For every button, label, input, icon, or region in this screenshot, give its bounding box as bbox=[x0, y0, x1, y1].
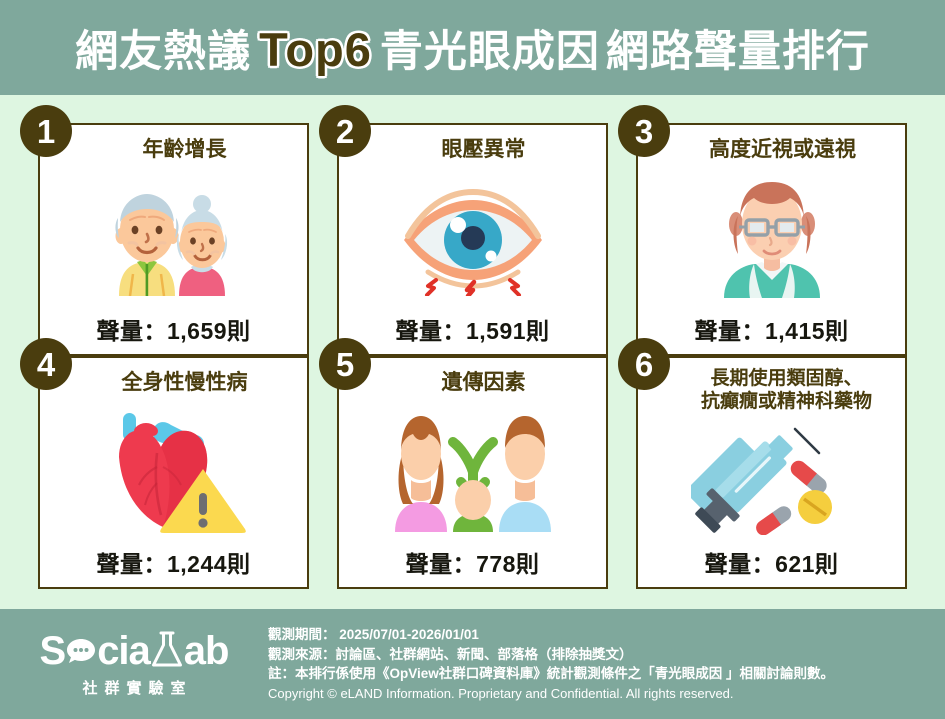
card-title-2: 眼壓異常 bbox=[339, 131, 606, 163]
logo-wordmark: S cia ab bbox=[40, 630, 229, 671]
card-title-1: 年齡增長 bbox=[40, 131, 307, 163]
title-accent-top6: Top6 bbox=[257, 22, 374, 77]
card-title-6-line2: 抗癲癇或精神科藥物 bbox=[678, 390, 895, 413]
ranking-card-3[interactable]: 3 高度近視或遠視 bbox=[636, 123, 907, 356]
note-copyright: Copyright © eLAND Information. Proprieta… bbox=[268, 684, 935, 703]
card-count-5: 聲量：778則 bbox=[406, 545, 540, 587]
rank-badge-4: 4 bbox=[20, 338, 72, 390]
title-segment-1: 網友熱議 bbox=[75, 17, 251, 79]
infographic-page: 網友熱議 Top6 青光眼成因 網路聲量排行 1 年齡增長 bbox=[0, 0, 945, 719]
ranking-grid: 1 年齡增長 bbox=[0, 95, 945, 609]
heart-warning-icon bbox=[40, 396, 307, 545]
note-observation-source: 觀測來源：討論區、社群網站、新聞、部落格（排除抽獎文） bbox=[268, 645, 935, 665]
ranking-card-4[interactable]: 4 全身性慢性病 bbox=[38, 356, 309, 589]
card-count-2: 聲量：1,591則 bbox=[395, 312, 549, 354]
header-banner: 網友熱議 Top6 青光眼成因 網路聲量排行 bbox=[0, 0, 945, 95]
grid-cell: 4 全身性慢性病 bbox=[24, 356, 323, 589]
grid-cell: 5 遺傳因素 bbox=[323, 356, 622, 589]
card-count-4: 聲量：1,244則 bbox=[96, 545, 250, 587]
logo-letters-ab: ab bbox=[184, 631, 229, 671]
logo-letters-cia: cia bbox=[97, 631, 150, 671]
card-title-5: 遺傳因素 bbox=[339, 364, 606, 396]
logo-subtitle: 社群實驗室 bbox=[75, 677, 192, 698]
sociallab-logo: S cia ab 社群實驗室 bbox=[0, 630, 262, 698]
grid-cell: 長期使用類固醇、 抗癲癇或精神科藥物 6 bbox=[622, 356, 921, 589]
ranking-card-6[interactable]: 長期使用類固醇、 抗癲癇或精神科藥物 6 bbox=[636, 356, 907, 589]
ranking-card-1[interactable]: 1 年齡增長 bbox=[38, 123, 309, 356]
rank-badge-5: 5 bbox=[319, 338, 371, 390]
title-segment-2: 青光眼成因 bbox=[380, 17, 600, 79]
card-count-1: 聲量：1,659則 bbox=[96, 312, 250, 354]
card-title-6: 長期使用類固醇、 抗癲癇或精神科藥物 bbox=[638, 364, 905, 413]
grid-cell: 3 高度近視或遠視 bbox=[622, 123, 921, 356]
eye-pressure-icon bbox=[339, 163, 606, 312]
footer-band: S cia ab 社群實驗室 觀測期間： 2025/07/01-2026/01/… bbox=[0, 609, 945, 719]
note-remark: 註：本排行係使用《OpView社群口碑資料庫》統計觀測條件之「青光眼成因 」相關… bbox=[268, 664, 935, 684]
rank-badge-6: 6 bbox=[618, 338, 670, 390]
elderly-couple-icon bbox=[40, 163, 307, 312]
ranking-card-5[interactable]: 5 遺傳因素 bbox=[337, 356, 608, 589]
card-count-6: 聲量：621則 bbox=[705, 545, 839, 587]
grid-cell: 2 眼壓異常 bbox=[323, 123, 622, 356]
logo-letter-s: S bbox=[40, 631, 66, 671]
rank-badge-2: 2 bbox=[319, 105, 371, 157]
grid-cell: 1 年齡增長 bbox=[24, 123, 323, 356]
card-title-6-line1: 長期使用類固醇、 bbox=[678, 367, 895, 390]
syringe-pills-icon bbox=[638, 413, 905, 545]
rank-badge-3: 3 bbox=[618, 105, 670, 157]
title-segment-3: 網路聲量排行 bbox=[606, 17, 870, 79]
footer-notes: 觀測期間： 2025/07/01-2026/01/01 觀測來源：討論區、社群網… bbox=[262, 625, 945, 704]
woman-glasses-icon bbox=[638, 163, 905, 312]
rank-badge-1: 1 bbox=[20, 105, 72, 157]
card-title-3: 高度近視或遠視 bbox=[638, 131, 905, 163]
speech-bubble-icon bbox=[66, 635, 96, 665]
card-count-3: 聲量：1,415則 bbox=[694, 312, 848, 354]
page-title: 網友熱議 Top6 青光眼成因 網路聲量排行 bbox=[75, 17, 870, 79]
note-observation-period: 觀測期間： 2025/07/01-2026/01/01 bbox=[268, 625, 935, 645]
lab-flask-icon bbox=[150, 630, 184, 670]
ranking-card-2[interactable]: 2 眼壓異常 bbox=[337, 123, 608, 356]
card-title-4: 全身性慢性病 bbox=[40, 364, 307, 396]
genetics-family-icon bbox=[339, 396, 606, 545]
